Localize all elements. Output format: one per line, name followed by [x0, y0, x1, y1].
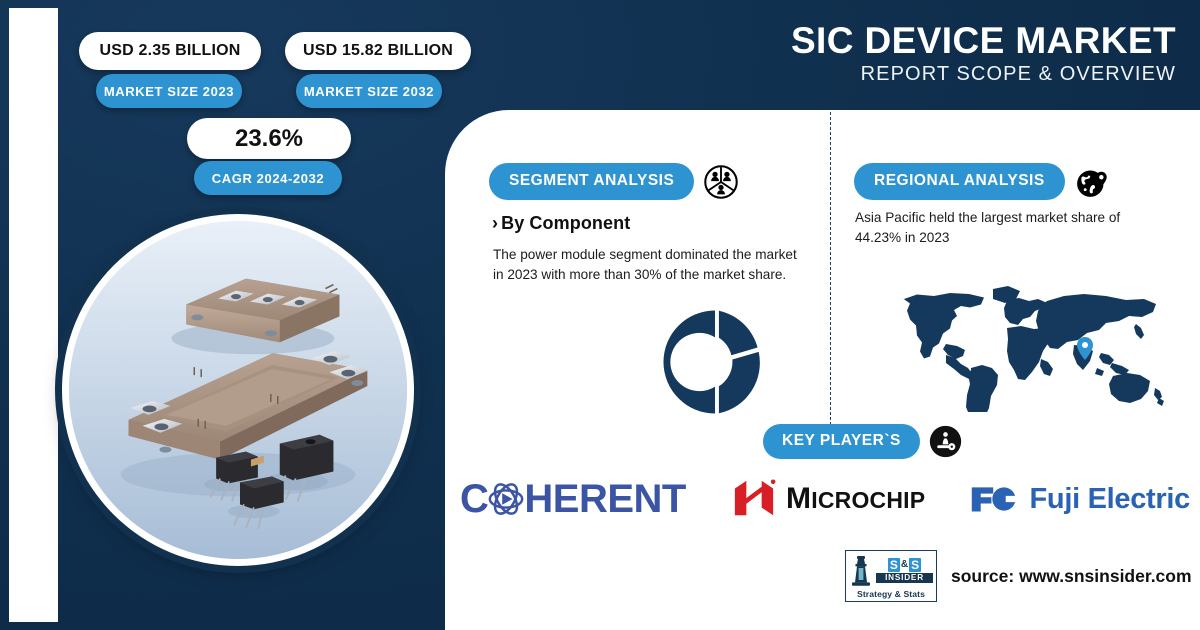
- infographic-canvas: SIC DEVICE MARKET REPORT SCOPE & OVERVIE…: [0, 0, 1200, 630]
- sns-s-left: S: [888, 558, 900, 572]
- person-on-key-icon: [929, 425, 962, 458]
- segment-pie-people-icon: [704, 165, 738, 199]
- power-module-illustration: [69, 221, 407, 559]
- market-size-2032-value: USD 15.82 BILLION: [285, 32, 471, 70]
- globe-pin-icon: [1075, 165, 1109, 199]
- sns-insider-logo: S & S INSIDER Strategy & Stats: [845, 550, 937, 602]
- key-players-label: KEY PLAYER`S: [763, 424, 920, 459]
- microchip-mark-icon: [731, 477, 777, 521]
- coherent-text-after: HERENT: [524, 477, 685, 522]
- fuji-wordmark: Fuji Electric: [1029, 483, 1190, 516]
- sns-tagline: Strategy & Stats: [849, 589, 933, 599]
- segment-description: The power module segment dominated the m…: [493, 245, 799, 285]
- microchip-text-main: M: [786, 482, 811, 515]
- coherent-text-before: C: [460, 477, 488, 522]
- segment-analysis-label: SEGMENT ANALYSIS: [489, 163, 694, 200]
- market-size-2032-label: MARKET SIZE 2032: [296, 74, 442, 108]
- segment-subheading: ›By Component: [492, 213, 630, 234]
- market-size-2023-value: USD 2.35 BILLION: [79, 32, 261, 70]
- sns-insider-word: INSIDER: [876, 573, 933, 583]
- regional-description: Asia Pacific held the largest market sha…: [855, 208, 1167, 248]
- left-white-band: [9, 8, 58, 622]
- header: SIC DEVICE MARKET REPORT SCOPE & OVERVIE…: [791, 22, 1176, 86]
- sns-ss-mark: S & S: [876, 558, 933, 572]
- chevron-right-icon: ›: [492, 213, 498, 233]
- sns-s-right: S: [909, 558, 921, 572]
- page-subtitle: REPORT SCOPE & OVERVIEW: [791, 63, 1176, 86]
- logo-coherent: C HERENT: [460, 477, 686, 522]
- regional-analysis-heading: REGIONAL ANALYSIS: [854, 163, 1109, 200]
- sns-ampersand: &: [901, 560, 908, 570]
- logo-fuji-electric: Fuji Electric: [970, 483, 1190, 516]
- market-size-2023-label: MARKET SIZE 2023: [96, 74, 242, 108]
- regional-analysis-label: REGIONAL ANALYSIS: [854, 163, 1065, 200]
- fuji-mark-icon: [970, 483, 1020, 515]
- atom-icon: [487, 480, 525, 518]
- product-photo: [69, 221, 407, 559]
- page-title: SIC DEVICE MARKET: [791, 22, 1176, 60]
- product-photo-frame: [62, 214, 414, 566]
- microchip-wordmark: MICROCHIP: [786, 482, 925, 516]
- logo-microchip: MICROCHIP: [731, 477, 925, 521]
- cagr-label: CAGR 2024-2032: [194, 161, 342, 195]
- segment-subheading-text: By Component: [501, 213, 630, 233]
- microchip-text-small: ICROCHIP: [811, 487, 925, 513]
- key-players-heading: KEY PLAYER`S: [763, 424, 962, 459]
- key-player-logos: C HERENT MICROCHIP: [460, 466, 1190, 532]
- panel-divider: [830, 112, 831, 430]
- lighthouse-icon: [849, 554, 873, 588]
- world-map: [848, 270, 1178, 412]
- component-donut-chart: [659, 306, 771, 418]
- segment-analysis-heading: SEGMENT ANALYSIS: [489, 163, 738, 200]
- footer: S & S INSIDER Strategy & Stats source: w…: [845, 550, 1192, 602]
- cagr-value: 23.6%: [187, 118, 351, 159]
- source-url: source: www.snsinsider.com: [951, 566, 1192, 587]
